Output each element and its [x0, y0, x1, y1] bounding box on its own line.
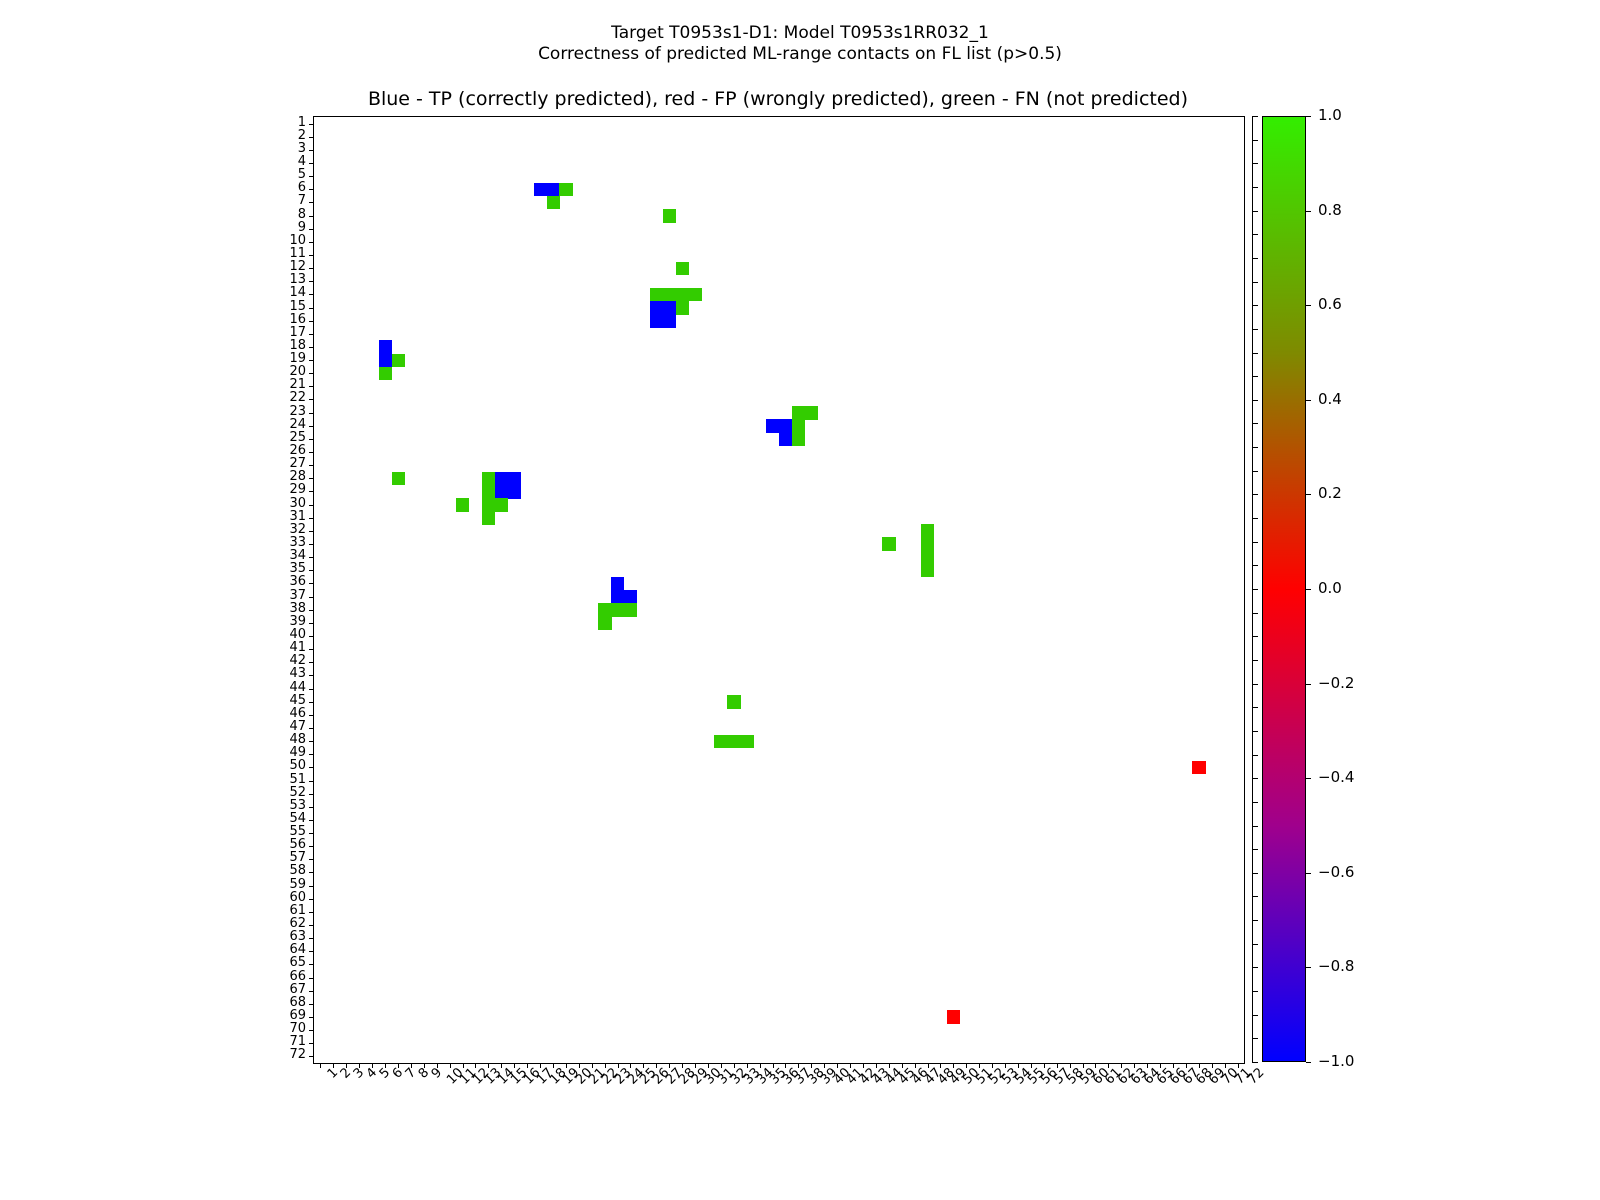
y-tick-label: 29 — [289, 483, 306, 496]
y-tick-label: 54 — [289, 812, 306, 825]
y-tick-mark — [309, 465, 314, 466]
y-tick-mark — [309, 478, 314, 479]
colorbar-minor-tick — [1252, 684, 1258, 685]
y-tick-mark — [309, 202, 314, 203]
colorbar-tick-label: 0.0 — [1318, 581, 1342, 596]
y-tick-mark — [309, 399, 314, 400]
contact-cell-fn — [740, 735, 753, 749]
y-tick-mark — [309, 833, 314, 834]
colorbar-minor-tick — [1252, 873, 1258, 874]
y-tick-mark — [309, 505, 314, 506]
contact-cell-tp — [611, 590, 624, 604]
colorbar-minor-tick — [1252, 660, 1258, 661]
y-tick-label: 50 — [289, 759, 306, 772]
y-tick-label: 25 — [289, 431, 306, 444]
y-tick-mark — [309, 728, 314, 729]
y-tick-mark — [309, 610, 314, 611]
y-tick-label: 52 — [289, 786, 306, 799]
colorbar-tick-mark — [1306, 305, 1311, 306]
x-tick-label: 2 — [339, 1066, 354, 1081]
y-tick-label: 35 — [289, 562, 306, 575]
colorbar-tick-mark — [1306, 116, 1311, 117]
y-tick-label: 20 — [289, 365, 306, 378]
y-tick-mark — [309, 820, 314, 821]
y-tick-label: 41 — [289, 641, 306, 654]
contact-cell-fn — [676, 262, 689, 276]
y-tick-mark — [309, 229, 314, 230]
colorbar-gradient-bar — [1262, 116, 1306, 1062]
contact-cell-fp — [1192, 761, 1205, 775]
contact-cell-tp — [779, 432, 792, 446]
y-tick-mark — [309, 925, 314, 926]
contact-cell-tp — [650, 301, 663, 315]
contact-cell-fn — [663, 209, 676, 223]
colorbar-tick-label: −0.8 — [1318, 959, 1354, 974]
y-tick-mark — [309, 951, 314, 952]
contact-cell-fn — [714, 735, 727, 749]
y-tick-mark — [309, 124, 314, 125]
y-tick-label: 37 — [289, 589, 306, 602]
y-tick-mark — [309, 163, 314, 164]
y-tick-label: 55 — [289, 825, 306, 838]
y-tick-label: 24 — [289, 418, 306, 431]
colorbar-minor-tick — [1252, 140, 1258, 141]
y-tick-mark — [309, 938, 314, 939]
contact-cell-tp — [508, 485, 521, 499]
y-tick-mark — [309, 597, 314, 598]
colorbar-minor-tick — [1252, 731, 1258, 732]
y-tick-label: 5 — [298, 168, 306, 181]
colorbar-minor-tick — [1252, 234, 1258, 235]
y-tick-mark — [309, 662, 314, 663]
contact-cell-fp — [947, 1010, 960, 1024]
contact-cell-fn — [379, 367, 392, 381]
y-tick-mark — [309, 675, 314, 676]
contact-cell-tp — [766, 419, 779, 433]
y-tick-label: 59 — [289, 878, 306, 891]
y-tick-label: 18 — [289, 339, 306, 352]
y-tick-mark — [309, 518, 314, 519]
contact-cell-fn — [624, 603, 637, 617]
y-tick-label: 36 — [289, 575, 306, 588]
colorbar-minor-tick — [1252, 896, 1258, 897]
colorbar-minor-tick — [1252, 707, 1258, 708]
y-tick-mark — [309, 807, 314, 808]
contact-cell-fn — [482, 498, 495, 512]
y-tick-mark — [309, 715, 314, 716]
y-tick-label: 31 — [289, 510, 306, 523]
y-tick-label: 28 — [289, 470, 306, 483]
contact-cell-fn — [689, 288, 702, 302]
y-tick-label: 57 — [289, 851, 306, 864]
y-tick-mark — [309, 1017, 314, 1018]
y-tick-mark — [309, 137, 314, 138]
y-tick-mark — [309, 531, 314, 532]
contact-cell-tp — [508, 472, 521, 486]
y-tick-mark — [309, 150, 314, 151]
y-tick-mark — [309, 859, 314, 860]
y-tick-label: 6 — [298, 181, 306, 194]
contact-cell-fn — [547, 196, 560, 210]
y-tick-label: 1 — [298, 116, 306, 129]
y-tick-mark — [309, 1030, 314, 1031]
y-tick-label: 62 — [289, 917, 306, 930]
y-tick-label: 8 — [298, 208, 306, 221]
contact-cell-fn — [921, 524, 934, 538]
colorbar-minor-tick — [1252, 494, 1258, 495]
colorbar-tick-mark — [1306, 873, 1311, 874]
contact-cell-tp — [495, 485, 508, 499]
y-tick-label: 65 — [289, 956, 306, 969]
contact-cell-tp — [534, 183, 547, 197]
y-tick-mark — [309, 176, 314, 177]
y-tick-mark — [309, 794, 314, 795]
plot-title-legend-text: Blue - TP (correctly predicted), red - F… — [313, 88, 1243, 110]
contact-cell-fn — [727, 735, 740, 749]
colorbar-minor-tick — [1252, 1015, 1258, 1016]
y-tick-mark — [309, 189, 314, 190]
y-tick-label: 51 — [289, 773, 306, 786]
colorbar-tick-label: −0.4 — [1318, 770, 1354, 785]
y-tick-label: 42 — [289, 654, 306, 667]
colorbar-minor-tick — [1252, 116, 1258, 117]
contact-cell-fn — [792, 406, 805, 420]
y-tick-mark — [309, 544, 314, 545]
x-tick-label: 8 — [416, 1066, 431, 1081]
y-tick-mark — [309, 912, 314, 913]
contact-cell-tp — [611, 577, 624, 591]
y-tick-label: 71 — [289, 1035, 306, 1048]
x-tick-label: 6 — [390, 1066, 405, 1081]
y-tick-label: 58 — [289, 864, 306, 877]
y-tick-label: 38 — [289, 602, 306, 615]
contact-cell-tp — [379, 354, 392, 368]
y-tick-label: 13 — [289, 273, 306, 286]
y-tick-mark — [309, 689, 314, 690]
contact-cell-fn — [650, 288, 663, 302]
colorbar-minor-tick — [1252, 849, 1258, 850]
y-tick-mark — [309, 649, 314, 650]
y-tick-mark — [309, 1004, 314, 1005]
x-tick-label: 9 — [429, 1066, 444, 1081]
y-tick-mark — [309, 255, 314, 256]
contact-cell-fn — [392, 354, 405, 368]
y-tick-mark — [309, 268, 314, 269]
colorbar-minor-tick — [1252, 802, 1258, 803]
y-tick-mark — [309, 373, 314, 374]
contact-cell-tp — [624, 590, 637, 604]
contact-cell-tp — [547, 183, 560, 197]
colorbar-minor-tick — [1252, 826, 1258, 827]
contact-cell-tp — [495, 472, 508, 486]
y-tick-mark — [309, 767, 314, 768]
y-tick-label: 34 — [289, 549, 306, 562]
y-tick-label: 40 — [289, 628, 306, 641]
colorbar-tick-label: 0.4 — [1318, 392, 1342, 407]
colorbar-minor-tick — [1252, 542, 1258, 543]
colorbar-tick-mark — [1306, 1062, 1311, 1063]
colorbar-tick-label: −0.6 — [1318, 865, 1354, 880]
y-tick-label: 14 — [289, 286, 306, 299]
y-tick-label: 4 — [298, 155, 306, 168]
contact-cell-fn — [805, 406, 818, 420]
y-tick-label: 15 — [289, 300, 306, 313]
colorbar-minor-tick — [1252, 1062, 1258, 1063]
y-tick-mark — [309, 557, 314, 558]
y-tick-label: 43 — [289, 667, 306, 680]
y-tick-label: 63 — [289, 930, 306, 943]
colorbar-minor-tick — [1252, 991, 1258, 992]
contact-map-plot-area[interactable] — [313, 116, 1245, 1064]
colorbar-minor-tick — [1252, 376, 1258, 377]
colorbar-minor-tick — [1252, 305, 1258, 306]
contact-map-figure: Target T0953s1-D1: Model T0953s1RR032_1 … — [0, 0, 1600, 1200]
y-tick-label: 60 — [289, 891, 306, 904]
contact-cell-fn — [482, 472, 495, 486]
y-tick-mark — [309, 978, 314, 979]
y-tick-label: 68 — [289, 996, 306, 1009]
y-tick-label: 12 — [289, 260, 306, 273]
contact-cell-fn — [482, 485, 495, 499]
x-tick-label: 7 — [403, 1066, 418, 1081]
y-tick-label: 44 — [289, 681, 306, 694]
contact-cell-tp — [663, 301, 676, 315]
colorbar-minor-tick — [1252, 163, 1258, 164]
y-tick-label: 27 — [289, 457, 306, 470]
colorbar-minor-tick — [1252, 755, 1258, 756]
y-tick-mark — [309, 321, 314, 322]
figure-suptitle-line-2: Correctness of predicted ML-range contac… — [0, 43, 1600, 65]
y-tick-mark — [309, 636, 314, 637]
y-tick-label: 66 — [289, 970, 306, 983]
colorbar-tick-mark — [1306, 967, 1311, 968]
contact-cell-fn — [456, 498, 469, 512]
y-tick-label: 69 — [289, 1009, 306, 1022]
contact-cell-fn — [559, 183, 572, 197]
y-tick-label: 30 — [289, 497, 306, 510]
y-tick-label: 2 — [298, 129, 306, 142]
y-tick-mark — [309, 964, 314, 965]
contact-cell-tp — [650, 314, 663, 328]
y-tick-label: 19 — [289, 352, 306, 365]
y-tick-mark — [309, 281, 314, 282]
y-tick-mark — [309, 386, 314, 387]
y-tick-mark — [309, 583, 314, 584]
y-tick-label: 56 — [289, 838, 306, 851]
colorbar-minor-tick — [1252, 1038, 1258, 1039]
y-tick-label: 70 — [289, 1022, 306, 1035]
colorbar-minor-tick — [1252, 778, 1258, 779]
y-tick-label: 16 — [289, 313, 306, 326]
y-tick-label: 33 — [289, 536, 306, 549]
colorbar-tick-label: −1.0 — [1318, 1054, 1354, 1069]
y-tick-mark — [309, 426, 314, 427]
y-tick-mark — [309, 242, 314, 243]
y-tick-mark — [309, 439, 314, 440]
y-tick-mark — [309, 899, 314, 900]
colorbar-minor-tick — [1252, 211, 1258, 212]
y-axis-tick-labels: 1234567891011121314151617181920212223242… — [270, 116, 306, 1062]
y-tick-mark — [309, 413, 314, 414]
y-tick-label: 39 — [289, 615, 306, 628]
y-tick-label: 26 — [289, 444, 306, 457]
contact-cell-fn — [921, 564, 934, 578]
colorbar-minor-tick — [1252, 329, 1258, 330]
y-tick-label: 72 — [289, 1048, 306, 1061]
colorbar-tick-label: 0.2 — [1318, 486, 1342, 501]
y-tick-label: 32 — [289, 523, 306, 536]
y-tick-label: 53 — [289, 799, 306, 812]
colorbar-minor-tick — [1252, 423, 1258, 424]
y-tick-label: 9 — [298, 221, 306, 234]
y-tick-label: 10 — [289, 234, 306, 247]
colorbar-minor-tick — [1252, 636, 1258, 637]
colorbar-minor-tick — [1252, 944, 1258, 945]
colorbar-minor-tick — [1252, 613, 1258, 614]
contact-cell-fn — [792, 432, 805, 446]
y-tick-mark — [309, 360, 314, 361]
y-tick-mark — [309, 846, 314, 847]
y-tick-label: 45 — [289, 694, 306, 707]
x-tick-label: 4 — [365, 1066, 380, 1081]
colorbar-minor-tick — [1252, 589, 1258, 590]
colorbar-minor-tick — [1252, 565, 1258, 566]
colorbar-minor-tick — [1252, 353, 1258, 354]
contact-cell-fn — [611, 603, 624, 617]
colorbar-tick-label: −0.2 — [1318, 676, 1354, 691]
y-tick-label: 23 — [289, 405, 306, 418]
y-tick-mark — [309, 886, 314, 887]
contact-cell-fn — [921, 537, 934, 551]
colorbar-tick-mark — [1306, 778, 1311, 779]
colorbar-tick-mark — [1306, 211, 1311, 212]
colorbar-tick-mark — [1306, 400, 1311, 401]
contact-cell-fn — [676, 288, 689, 302]
y-tick-mark — [309, 216, 314, 217]
y-tick-mark — [309, 702, 314, 703]
contact-cell-fn — [676, 301, 689, 315]
contact-cell-fn — [495, 498, 508, 512]
figure-suptitle-line-1: Target T0953s1-D1: Model T0953s1RR032_1 — [0, 22, 1600, 44]
colorbar-tick-label: 1.0 — [1318, 108, 1342, 123]
y-tick-mark — [309, 872, 314, 873]
contact-cell-fn — [663, 288, 676, 302]
x-axis-tick-labels: 1234567891011121314151617181920212223242… — [313, 1066, 1303, 1136]
y-tick-label: 47 — [289, 720, 306, 733]
colorbar-tick-mark — [1306, 494, 1311, 495]
colorbar-tick-label: 0.6 — [1318, 297, 1342, 312]
y-tick-mark — [309, 491, 314, 492]
colorbar-tick-mark — [1306, 589, 1311, 590]
contact-cell-fn — [921, 551, 934, 565]
colorbar-tick-mark — [1306, 684, 1311, 685]
x-tick-label: 5 — [378, 1066, 393, 1081]
y-tick-mark — [309, 334, 314, 335]
y-tick-mark — [309, 452, 314, 453]
colorbar-minor-tick — [1252, 920, 1258, 921]
y-tick-label: 46 — [289, 707, 306, 720]
x-tick-label: 3 — [352, 1066, 367, 1081]
y-tick-mark — [309, 781, 314, 782]
contact-cells-layer — [314, 117, 1244, 1063]
colorbar-minor-tick — [1252, 967, 1258, 968]
colorbar-minor-tick — [1252, 400, 1258, 401]
y-tick-mark — [309, 308, 314, 309]
contact-cell-tp — [379, 340, 392, 354]
y-tick-label: 7 — [298, 194, 306, 207]
colorbar-minor-tick — [1252, 447, 1258, 448]
y-tick-label: 3 — [298, 142, 306, 155]
y-tick-mark — [309, 741, 314, 742]
y-tick-label: 22 — [289, 391, 306, 404]
y-tick-label: 67 — [289, 983, 306, 996]
y-tick-label: 17 — [289, 326, 306, 339]
y-tick-mark — [309, 1056, 314, 1057]
contact-cell-fn — [598, 603, 611, 617]
colorbar: 1.00.80.60.40.20.0−0.2−0.4−0.6−0.8−1.0 — [1262, 116, 1306, 1062]
y-tick-label: 61 — [289, 904, 306, 917]
y-tick-mark — [309, 991, 314, 992]
y-tick-mark — [309, 294, 314, 295]
y-tick-label: 11 — [289, 247, 306, 260]
contact-cell-fn — [727, 695, 740, 709]
colorbar-minor-tick — [1252, 518, 1258, 519]
colorbar-minor-tick — [1252, 282, 1258, 283]
contact-cell-fn — [882, 537, 895, 551]
y-tick-mark — [309, 754, 314, 755]
contact-cell-fn — [598, 616, 611, 630]
contact-cell-fn — [392, 472, 405, 486]
y-tick-label: 64 — [289, 943, 306, 956]
y-tick-label: 21 — [289, 378, 306, 391]
y-tick-mark — [309, 623, 314, 624]
contact-cell-fn — [792, 419, 805, 433]
y-tick-mark — [309, 347, 314, 348]
y-tick-label: 49 — [289, 746, 306, 759]
contact-cell-tp — [663, 314, 676, 328]
contact-cell-tp — [779, 419, 792, 433]
y-tick-mark — [309, 1043, 314, 1044]
contact-cell-fn — [482, 511, 495, 525]
colorbar-minor-tick — [1252, 187, 1258, 188]
colorbar-minor-tick — [1252, 258, 1258, 259]
colorbar-tick-label: 0.8 — [1318, 203, 1342, 218]
colorbar-minor-tick — [1252, 471, 1258, 472]
y-tick-label: 48 — [289, 733, 306, 746]
y-tick-mark — [309, 570, 314, 571]
